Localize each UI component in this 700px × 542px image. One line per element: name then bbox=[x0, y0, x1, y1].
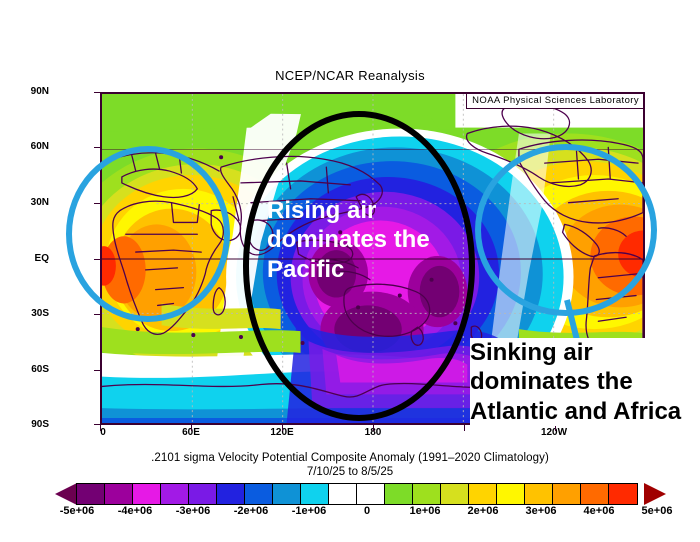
y-tick-30n: 30N bbox=[5, 197, 49, 208]
colorbar-segment-16 bbox=[525, 484, 553, 504]
colorbar-high-extend-arrow bbox=[644, 483, 666, 505]
annotation-sinking-air: Sinking air dominates the Atlantic and A… bbox=[470, 338, 700, 426]
colorbar-segment-18 bbox=[581, 484, 609, 504]
x-tick-0: 0 bbox=[100, 427, 106, 438]
colorbar-segment-3 bbox=[161, 484, 189, 504]
colorbar-segment-17 bbox=[553, 484, 581, 504]
colorbar-segments bbox=[76, 483, 638, 505]
colorbar-segment-8 bbox=[301, 484, 329, 504]
x-tick-mark bbox=[282, 425, 283, 431]
colorbar-tick-1: -4e+06 bbox=[118, 505, 153, 517]
y-tick-90s: 90S bbox=[5, 419, 49, 430]
colorbar-segment-0 bbox=[77, 484, 105, 504]
colorbar-segment-9 bbox=[329, 484, 357, 504]
y-tick-90n: 90N bbox=[5, 86, 49, 97]
colorbar-tick-10: 5e+06 bbox=[642, 505, 673, 517]
x-tick-mark bbox=[555, 425, 556, 431]
y-tick-mark bbox=[94, 147, 101, 148]
colorbar-tick-labels: -5e+06-4e+06-3e+06-2e+06-1e+0601e+062e+0… bbox=[0, 505, 700, 521]
chart-page: NCEP/NCAR Reanalysis bbox=[0, 0, 700, 542]
x-tick-mark bbox=[100, 425, 101, 431]
colorbar-segment-11 bbox=[385, 484, 413, 504]
colorbar-tick-5: 0 bbox=[364, 505, 370, 517]
colorbar-segment-15 bbox=[497, 484, 525, 504]
colorbar-segment-7 bbox=[273, 484, 301, 504]
colorbar-segment-2 bbox=[133, 484, 161, 504]
africa-highlight-circle bbox=[66, 146, 230, 322]
x-tick-mark bbox=[464, 425, 465, 431]
colorbar-segment-1 bbox=[105, 484, 133, 504]
colorbar-segment-14 bbox=[469, 484, 497, 504]
colorbar-segment-12 bbox=[413, 484, 441, 504]
colorbar-low-extend-arrow bbox=[55, 483, 77, 505]
colorbar-segment-19 bbox=[609, 484, 637, 504]
colorbar-tick-8: 3e+06 bbox=[526, 505, 557, 517]
y-tick-60s: 60S bbox=[5, 364, 49, 375]
colorbar-segment-5 bbox=[217, 484, 245, 504]
x-tick-mark bbox=[191, 425, 192, 431]
y-tick-mark bbox=[94, 370, 101, 371]
source-label: NOAA Physical Sciences Laboratory bbox=[466, 94, 643, 109]
y-tick-mark bbox=[94, 314, 101, 315]
page-title: NCEP/NCAR Reanalysis bbox=[0, 68, 700, 83]
colorbar-tick-7: 2e+06 bbox=[468, 505, 499, 517]
x-tick-mark bbox=[373, 425, 374, 431]
y-tick-60n: 60N bbox=[5, 141, 49, 152]
colorbar-tick-0: -5e+06 bbox=[60, 505, 95, 517]
annotation-rising-air: Rising air dominates the Pacific bbox=[267, 196, 477, 284]
y-tick-mark bbox=[94, 92, 101, 93]
colorbar-tick-2: -3e+06 bbox=[176, 505, 211, 517]
colorbar: -5e+06-4e+06-3e+06-2e+06-1e+0601e+062e+0… bbox=[0, 483, 700, 507]
caption-line-1: .2101 sigma Velocity Potential Composite… bbox=[0, 452, 700, 464]
caption-line-2: 7/10/25 to 8/5/25 bbox=[0, 466, 700, 478]
x-tick-120w: 120W bbox=[541, 427, 567, 438]
atlantic-highlight-circle bbox=[475, 144, 657, 316]
y-tick-30s: 30S bbox=[5, 308, 49, 319]
colorbar-tick-6: 1e+06 bbox=[410, 505, 441, 517]
colorbar-tick-9: 4e+06 bbox=[584, 505, 615, 517]
colorbar-tick-4: -1e+06 bbox=[292, 505, 327, 517]
y-tick-eq: EQ bbox=[5, 253, 49, 264]
colorbar-tick-3: -2e+06 bbox=[234, 505, 269, 517]
colorbar-segment-4 bbox=[189, 484, 217, 504]
colorbar-segment-10 bbox=[357, 484, 385, 504]
colorbar-segment-6 bbox=[245, 484, 273, 504]
colorbar-segment-13 bbox=[441, 484, 469, 504]
